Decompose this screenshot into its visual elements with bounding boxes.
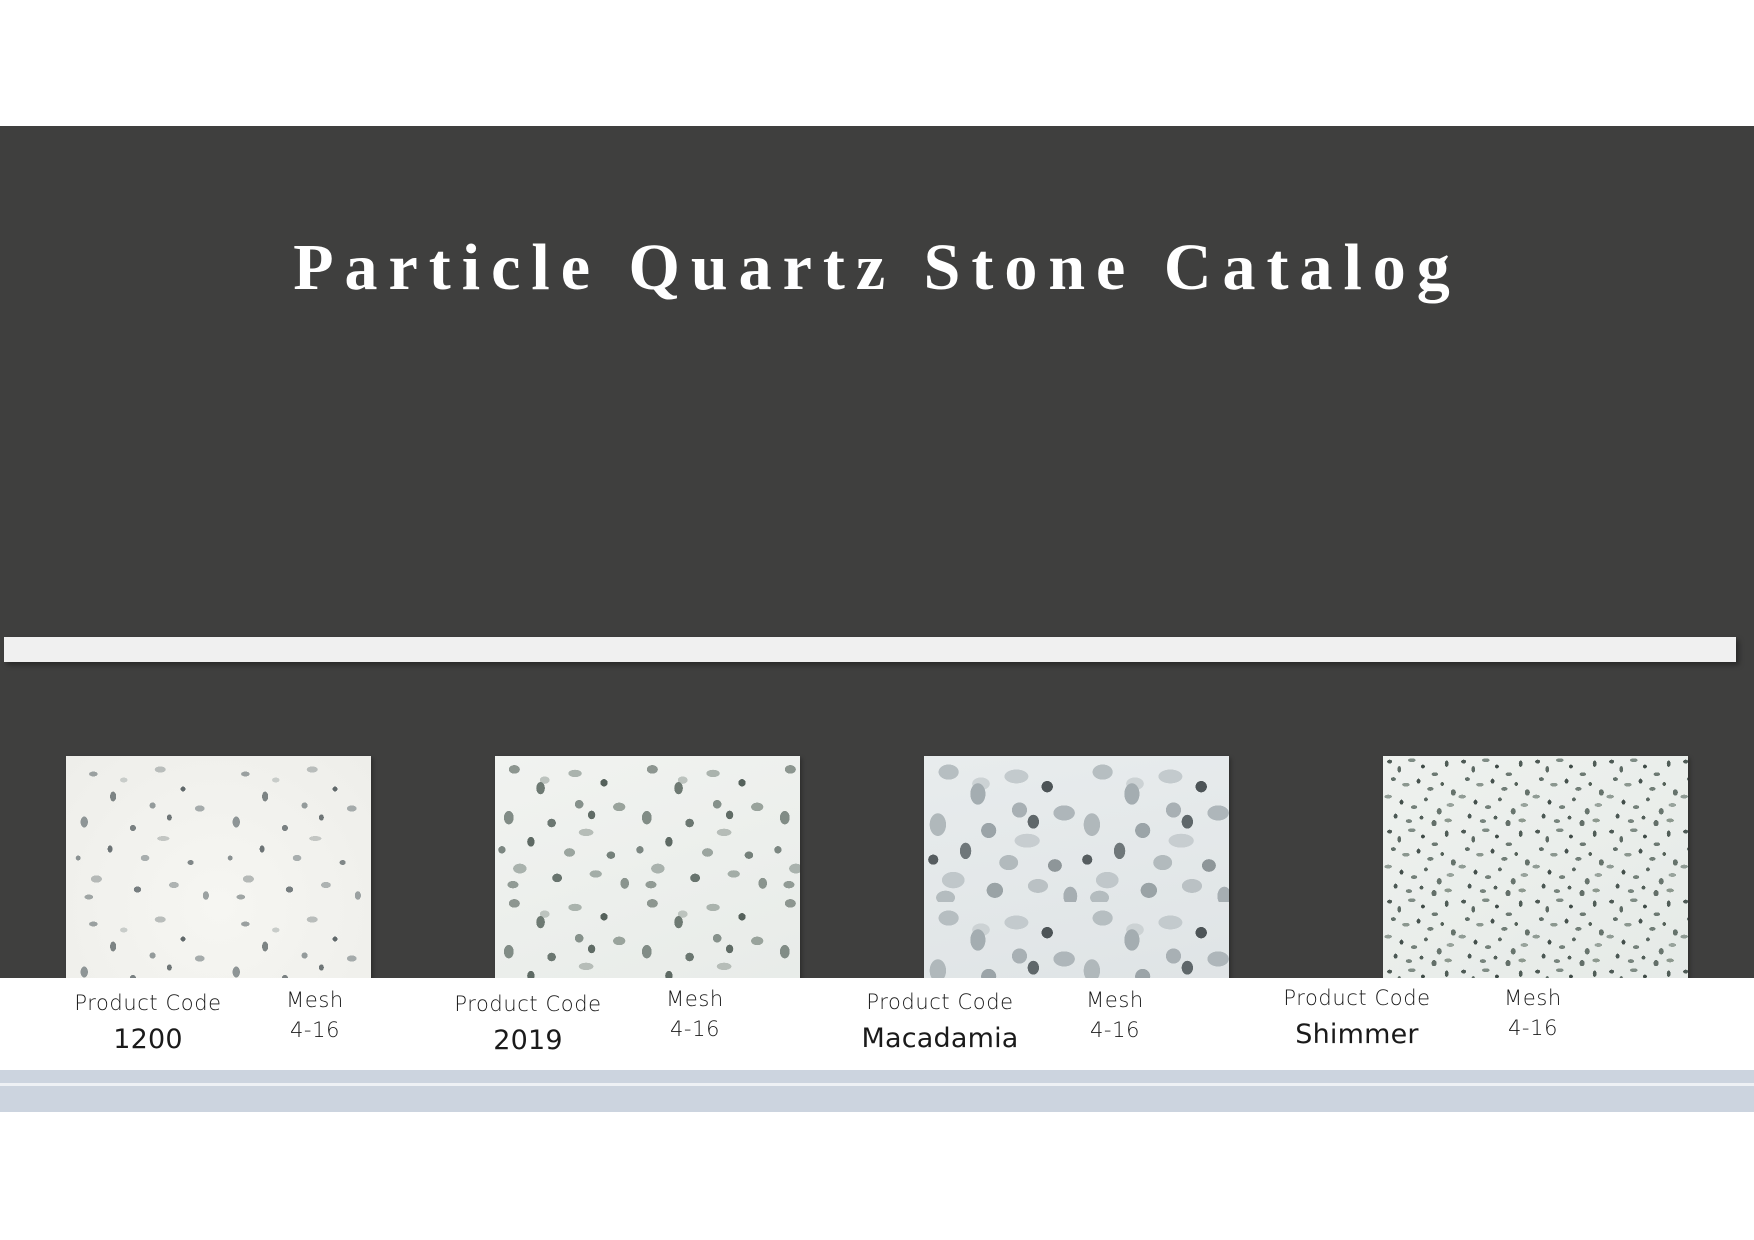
product-code-block: Product Code Shimmer xyxy=(1262,986,1452,1051)
mesh-value: 4-16 xyxy=(640,1017,750,1042)
product-caption-shimmer: Product Code Shimmer Mesh 4-16 xyxy=(1230,978,1630,1070)
caption-band: Product Code 1200 Mesh 4-16 Product Code… xyxy=(0,978,1754,1070)
mesh-label: Mesh xyxy=(1478,986,1588,1011)
product-code-label: Product Code xyxy=(1262,986,1452,1011)
product-code-value: 1200 xyxy=(58,1024,238,1056)
product-code-block: Product Code 1200 xyxy=(58,991,238,1056)
product-code-label: Product Code xyxy=(840,990,1040,1015)
mesh-label: Mesh xyxy=(260,988,370,1013)
product-code-block: Product Code 2019 xyxy=(438,992,618,1057)
product-code-label: Product Code xyxy=(438,992,618,1017)
mesh-block: Mesh 4-16 xyxy=(260,988,370,1043)
product-code-block: Product Code Macadamia xyxy=(840,990,1040,1055)
product-code-value: Macadamia xyxy=(840,1023,1040,1055)
product-caption-macadamia: Product Code Macadamia Mesh 4-16 xyxy=(810,978,1210,1070)
mesh-value: 4-16 xyxy=(1060,1018,1170,1043)
product-caption-1200: Product Code 1200 Mesh 4-16 xyxy=(20,978,420,1070)
hero-divider-bar xyxy=(4,637,1736,662)
mesh-block: Mesh 4-16 xyxy=(640,987,750,1042)
footer-band-highlight-line xyxy=(0,1083,1754,1086)
mesh-label: Mesh xyxy=(640,987,750,1012)
mesh-label: Mesh xyxy=(1060,988,1170,1013)
hero-panel: Particle Quartz Stone Catalog xyxy=(0,126,1754,978)
mesh-value: 4-16 xyxy=(260,1018,370,1043)
product-caption-2019: Product Code 2019 Mesh 4-16 xyxy=(400,978,800,1070)
mesh-value: 4-16 xyxy=(1478,1016,1588,1041)
product-code-label: Product Code xyxy=(58,991,238,1016)
mesh-block: Mesh 4-16 xyxy=(1060,988,1170,1043)
footer-band xyxy=(0,1070,1754,1112)
mesh-block: Mesh 4-16 xyxy=(1478,986,1588,1041)
page-title: Particle Quartz Stone Catalog xyxy=(0,230,1754,306)
product-code-value: Shimmer xyxy=(1262,1019,1452,1051)
product-code-value: 2019 xyxy=(438,1025,618,1057)
